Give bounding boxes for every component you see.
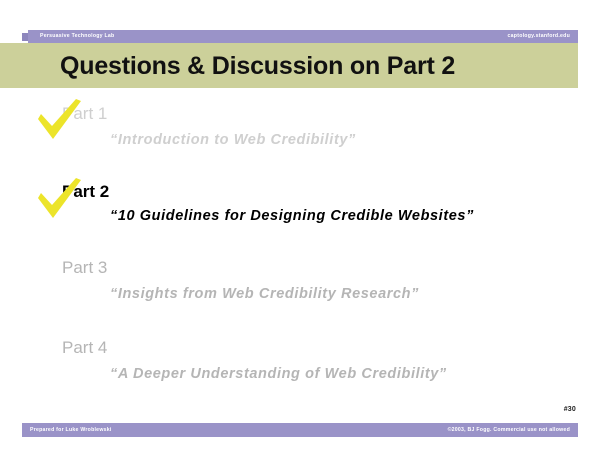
slide-header-bar: Persuasive Technology Lab captology.stan… xyxy=(28,30,578,43)
slide-footer-bar: Prepared for Luke Wroblewski ©2003, BJ F… xyxy=(22,423,578,437)
header-organization-label: Persuasive Technology Lab xyxy=(40,32,114,41)
agenda-item-subtitle: “A Deeper Understanding of Web Credibili… xyxy=(110,366,447,382)
checkmark-icon-part-1 xyxy=(36,99,82,141)
agenda-item-label: Part 3 xyxy=(62,258,107,278)
footer-copyright-label: ©2003, BJ Fogg. Commercial use not allow… xyxy=(448,426,570,435)
agenda-item-subtitle: “Introduction to Web Credibility” xyxy=(110,132,356,148)
agenda-item-subtitle: “Insights from Web Credibility Research” xyxy=(110,286,419,302)
header-website-label: captology.stanford.edu xyxy=(508,32,570,41)
slide-canvas: Persuasive Technology Lab captology.stan… xyxy=(0,0,600,463)
page-title: Questions & Discussion on Part 2 xyxy=(60,52,560,81)
slide-page-number: #30 xyxy=(564,406,576,413)
footer-prepared-for-label: Prepared for Luke Wroblewski xyxy=(30,426,112,435)
agenda-item-subtitle: “10 Guidelines for Designing Credible We… xyxy=(110,208,474,224)
agenda-item-label: Part 4 xyxy=(62,338,107,358)
checkmark-icon-part-2 xyxy=(36,178,82,220)
